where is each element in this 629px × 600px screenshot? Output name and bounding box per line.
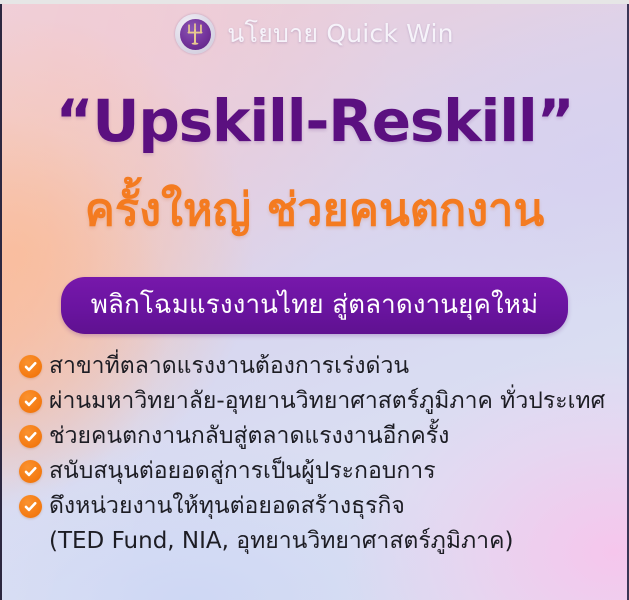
tagline-banner: พลิกโฉมแรงงานไทย สู่ตลาดงานยุคใหม่: [61, 277, 569, 334]
infographic-poster: นโยบาย Quick Win “Upskill-Reskill” ครั้ง…: [0, 0, 629, 600]
headline-block: “Upskill-Reskill”: [0, 92, 629, 150]
check-circle-icon: [19, 355, 42, 378]
banner-row: พลิกโฉมแรงงานไทย สู่ตลาดงานยุคใหม่: [0, 277, 629, 334]
list-item-label: ผ่านมหาวิทยาลัย-อุทยานวิทยาศาสตร์ภูมิภาค…: [49, 387, 605, 415]
header-title: นโยบาย Quick Win: [227, 14, 453, 54]
list-item: สนับสนุนต่อยอดสู่การเป็นผู้ประกอบการ: [19, 457, 619, 485]
check-circle-icon: [19, 495, 42, 518]
left-edge-rule: [0, 4, 2, 600]
poster-header: นโยบาย Quick Win: [0, 12, 629, 56]
list-item-label: ช่วยคนตกงานกลับสู่ตลาดแรงงานอีกครั้ง: [49, 422, 449, 450]
list-item: ผ่านมหาวิทยาลัย-อุทยานวิทยาศาสตร์ภูมิภาค…: [19, 387, 619, 415]
ministry-of-labour-emblem-icon: [175, 14, 215, 54]
list-item-label: สาขาที่ตลาดแรงงานต้องการเร่งด่วน: [49, 352, 409, 380]
check-circle-icon: [19, 425, 42, 448]
check-circle-icon: [19, 390, 42, 413]
list-item-label: สนับสนุนต่อยอดสู่การเป็นผู้ประกอบการ: [49, 457, 436, 485]
list-item: สาขาที่ตลาดแรงงานต้องการเร่งด่วน: [19, 352, 619, 380]
page-title: “Upskill-Reskill”: [0, 92, 629, 150]
list-item: ช่วยคนตกงานกลับสู่ตลาดแรงงานอีกครั้ง: [19, 422, 619, 450]
top-edge-strip: [0, 0, 629, 4]
list-item-label: ดึงหน่วยงานให้ทุนต่อยอดสร้างธุรกิจ: [49, 492, 405, 520]
emblem-inner-disc: [180, 19, 211, 50]
page-subtitle: ครั้งใหญ่ ช่วยคนตกงาน: [0, 186, 629, 233]
bullet-list: สาขาที่ตลาดแรงงานต้องการเร่งด่วน ผ่านมหา…: [19, 352, 619, 555]
funding-agencies-note: (TED Fund, NIA, อุทยานวิทยาศาสตร์ภูมิภาค…: [49, 527, 619, 555]
list-item: ดึงหน่วยงานให้ทุนต่อยอดสร้างธุรกิจ: [19, 492, 619, 520]
check-circle-icon: [19, 460, 42, 483]
